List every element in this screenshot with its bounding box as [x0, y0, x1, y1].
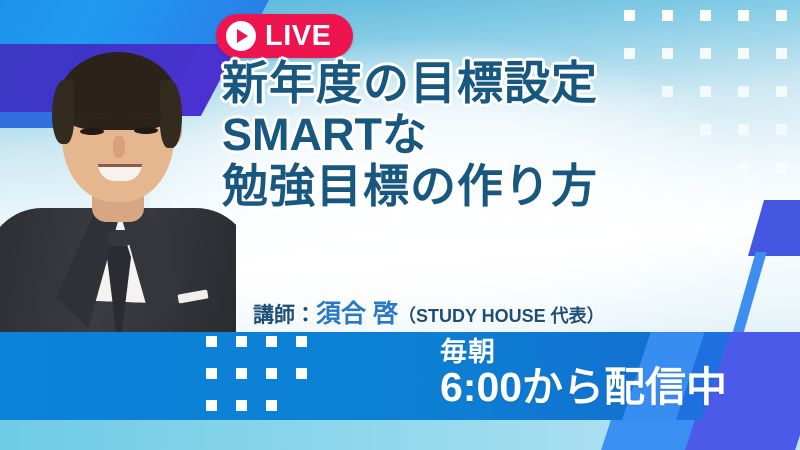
live-badge[interactable]: LIVE [216, 14, 353, 58]
photo-eye-left [80, 128, 104, 135]
headline: 新年度の目標設定 SMARTな 勉強目標の作り方 [222, 60, 692, 210]
instructor-credit: 講師：須合 啓（STUDY HOUSE 代表） [253, 294, 605, 330]
decor-dot [236, 368, 247, 379]
photo-nose [113, 136, 125, 158]
decor-dot [206, 336, 217, 347]
decor-dot [624, 10, 635, 21]
decor-dot [738, 124, 749, 135]
headline-line-3: 勉強目標の作り方 [222, 163, 692, 210]
photo-hair-side-left [52, 80, 74, 144]
decor-dot [624, 48, 635, 59]
play-circle-icon [226, 21, 256, 51]
decor-dot [266, 336, 277, 347]
footer-strip [0, 420, 800, 450]
decor-parallelogram-right [748, 200, 800, 256]
photo-eye-right [134, 127, 158, 134]
stream-announcement-banner: LIVE 新年度の目標設定 SMARTな 勉強目標の作り方 講師：須合 啓（ST… [0, 0, 800, 450]
decor-dot [236, 400, 247, 411]
decor-dot [266, 368, 277, 379]
headline-line-2: SMARTな [222, 112, 692, 158]
decor-dot [700, 86, 711, 97]
schedule-line-2: 6:00から配信中 [440, 366, 727, 409]
decor-dot [738, 86, 749, 97]
schedule-line-1: 毎朝 [440, 338, 727, 367]
instructor-org: （STUDY HOUSE 代表） [398, 306, 605, 326]
decor-dot [738, 10, 749, 21]
decor-dot [662, 10, 673, 21]
decor-dot [776, 10, 787, 21]
live-badge-label: LIVE [265, 22, 331, 51]
footer-parallelogram-2 [685, 420, 800, 450]
decor-dot [776, 162, 787, 173]
decor-dot [700, 10, 711, 21]
decor-dot [700, 124, 711, 135]
decor-dot [266, 400, 277, 411]
photo-tie-knot [108, 230, 130, 246]
instructor-name: 須合 啓 [316, 300, 398, 328]
decor-dot [206, 368, 217, 379]
decor-dot [206, 400, 217, 411]
decor-dot [296, 336, 307, 347]
photo-hair-side-right [160, 80, 182, 148]
decor-dot [700, 48, 711, 59]
decor-dot [776, 124, 787, 135]
decor-dot [236, 336, 247, 347]
schedule-text: 毎朝 6:00から配信中 [440, 338, 727, 409]
headline-line-1: 新年度の目標設定 [222, 60, 692, 107]
decor-dot [738, 48, 749, 59]
decor-dot [776, 48, 787, 59]
decor-dot [296, 368, 307, 379]
instructor-label: 講師： [253, 304, 316, 327]
decor-dot [662, 48, 673, 59]
decor-dot [738, 162, 749, 173]
schedule-banner: 毎朝 6:00から配信中 [0, 332, 800, 420]
decor-dot [776, 86, 787, 97]
